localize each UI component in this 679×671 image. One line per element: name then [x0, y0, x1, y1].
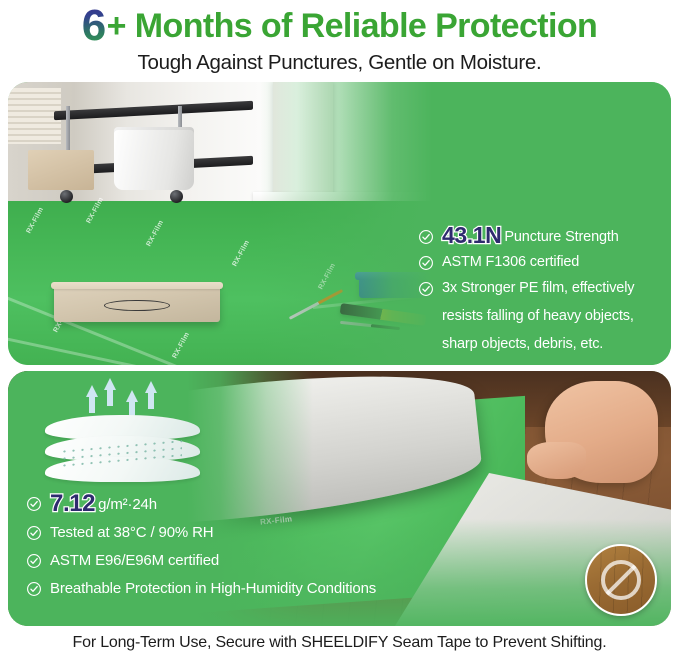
product-feature-infographic: 6+ Months of Reliable Protection Tough A… [0, 0, 679, 671]
airflow-arrow-icon [145, 381, 157, 393]
airflow-arrow-icon [86, 385, 98, 397]
breathability-panel: RX-Film [8, 371, 671, 626]
headline-text: Months of Reliable Protection [135, 7, 597, 45]
puncture-strength-value: 43.1N [442, 222, 501, 248]
bullet-text: 7.12g/m²·24h [50, 494, 157, 514]
page-title: 6+ Months of Reliable Protection [0, 5, 679, 47]
check-circle-icon [26, 496, 42, 512]
bullet-line-3: sharp objects, debris, etc. [442, 335, 634, 354]
check-circle-icon [418, 229, 434, 245]
months-number: 6 [82, 1, 107, 50]
bullet-text: Breathable Protection in High-Humidity C… [50, 579, 376, 598]
no-moisture-damage-badge [585, 544, 657, 616]
bullet-text: ASTM E96/E96M certified [50, 551, 219, 570]
bullet-item: ASTM E96/E96M certified [26, 551, 486, 570]
airflow-arrow-icon [104, 378, 116, 390]
plus-sign: + [107, 7, 126, 45]
breathability-bullet-list: 7.12g/m²·24h Tested at 38°C / 90% RH [26, 494, 486, 607]
bullet-unit: g/m²·24h [98, 496, 157, 513]
bullet-text: 43.1NPuncture Strength [442, 226, 619, 247]
check-circle-icon [418, 255, 434, 271]
bullet-item: Tested at 38°C / 90% RH [26, 523, 486, 542]
bullet-item: Breathable Protection in High-Humidity C… [26, 579, 486, 598]
bullet-label: Puncture Strength [504, 229, 618, 245]
bullet-item: 43.1NPuncture Strength [418, 226, 670, 247]
header: 6+ Months of Reliable Protection Tough A… [0, 0, 679, 75]
breathability-value: 7.12 [50, 490, 95, 517]
page-subtitle: Tough Against Punctures, Gentle on Moist… [0, 51, 679, 75]
bullet-text: ASTM F1306 certified [442, 253, 579, 272]
puncture-bullet-list: 43.1NPuncture Strength ASTM F1306 certif… [418, 226, 670, 361]
footer-note: For Long-Term Use, Secure with SHEELDIFY… [0, 634, 679, 652]
bullet-item: 3x Stronger PE film, effectivelyresists … [418, 279, 670, 354]
bullet-text: Tested at 38°C / 90% RH [50, 523, 213, 542]
bullet-item: 7.12g/m²·24h [26, 494, 486, 514]
check-circle-icon [26, 553, 42, 569]
bullet-text: 3x Stronger PE film, effectivelyresists … [442, 279, 634, 354]
check-circle-icon [26, 525, 42, 541]
bullet-line-1: 3x Stronger PE film, effectively [442, 280, 634, 296]
check-circle-icon [26, 581, 42, 597]
prohibited-icon [601, 560, 641, 600]
check-circle-icon [418, 281, 434, 297]
breathable-layers-diagram [30, 383, 215, 498]
airflow-arrow-icon [126, 390, 138, 402]
bullet-line-2: resists falling of heavy objects, [442, 307, 634, 326]
puncture-protection-panel: RX-Film RX-Film RX-Film RX-Film RX-Film … [8, 82, 671, 365]
bullet-item: ASTM F1306 certified [418, 253, 670, 272]
